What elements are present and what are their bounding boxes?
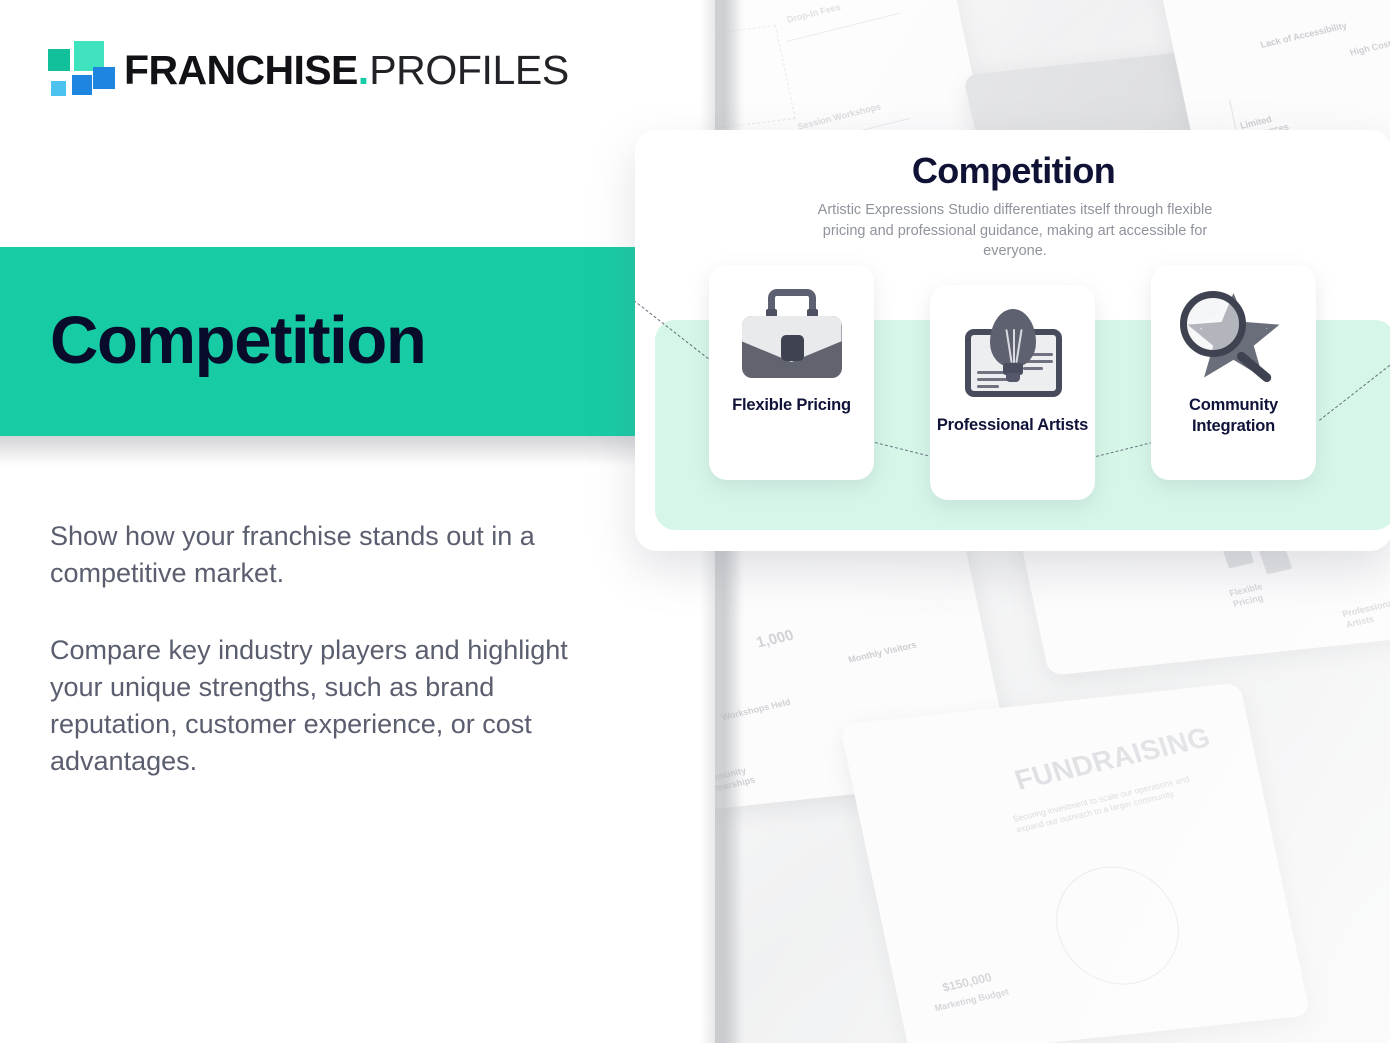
logo-mosaic-icon bbox=[48, 41, 106, 99]
bg-label: $150,000 bbox=[840, 931, 875, 956]
preview-card-subtitle: Artistic Expressions Studio differentiat… bbox=[805, 200, 1225, 262]
bg-slide-fundraising: FUNDRAISING Securing investment to scale… bbox=[840, 683, 1311, 1043]
bg-label: Flexible Pricing bbox=[1228, 575, 1293, 609]
bg-label: 1,000 bbox=[754, 627, 796, 653]
description-paragraph-1: Show how your franchise stands out in a … bbox=[50, 518, 625, 592]
bg-label: High Cost bbox=[1348, 38, 1390, 58]
briefcase-icon bbox=[732, 287, 852, 383]
description-paragraph-2: Compare key industry players and highlig… bbox=[50, 632, 625, 780]
brand-logo[interactable]: FRANCHISE . PROFILES bbox=[48, 41, 569, 99]
bg-label: Lack of Accessibility bbox=[1259, 20, 1350, 50]
feature-tile-professional-artists[interactable]: Professional Artists bbox=[930, 285, 1095, 500]
preview-card[interactable]: Competition Artistic Expressions Studio … bbox=[635, 130, 1390, 551]
feature-tile-label: Flexible Pricing bbox=[732, 395, 851, 416]
feature-tile-flexible-pricing[interactable]: Flexible Pricing bbox=[709, 265, 874, 480]
page-title: Competition bbox=[50, 302, 425, 379]
bg-label: Monthly Visitors bbox=[847, 640, 918, 666]
hero-band-shadow bbox=[0, 436, 637, 466]
logo-square-blue-small bbox=[72, 75, 92, 95]
preview-card-title: Competition bbox=[635, 150, 1390, 192]
logo-text-bold: FRANCHISE bbox=[124, 47, 358, 94]
bg-label: Drop-In Fees bbox=[786, 2, 843, 26]
logo-square-teal-dark bbox=[48, 49, 70, 71]
logo-square-blue bbox=[93, 67, 115, 89]
slide-canvas: Drop-In Fees Session Workshops Commissio… bbox=[0, 0, 1390, 1043]
feature-tile-label: Community Integration bbox=[1151, 395, 1316, 438]
bg-label: Space Expansion bbox=[840, 947, 890, 974]
logo-wordmark: FRANCHISE . PROFILES bbox=[124, 47, 569, 94]
magnifier-star-icon bbox=[1174, 287, 1294, 383]
feature-tile-community-integration[interactable]: Community Integration bbox=[1151, 265, 1316, 480]
description-block: Show how your franchise stands out in a … bbox=[50, 518, 625, 780]
bg-label: Professional Artists bbox=[1341, 594, 1390, 630]
logo-square-lightblue bbox=[51, 81, 66, 96]
lightbulb-certificate-icon bbox=[953, 307, 1073, 403]
feature-tile-label: Professional Artists bbox=[937, 415, 1088, 436]
logo-text-dot: . bbox=[358, 47, 369, 94]
logo-text-thin: PROFILES bbox=[369, 47, 569, 94]
